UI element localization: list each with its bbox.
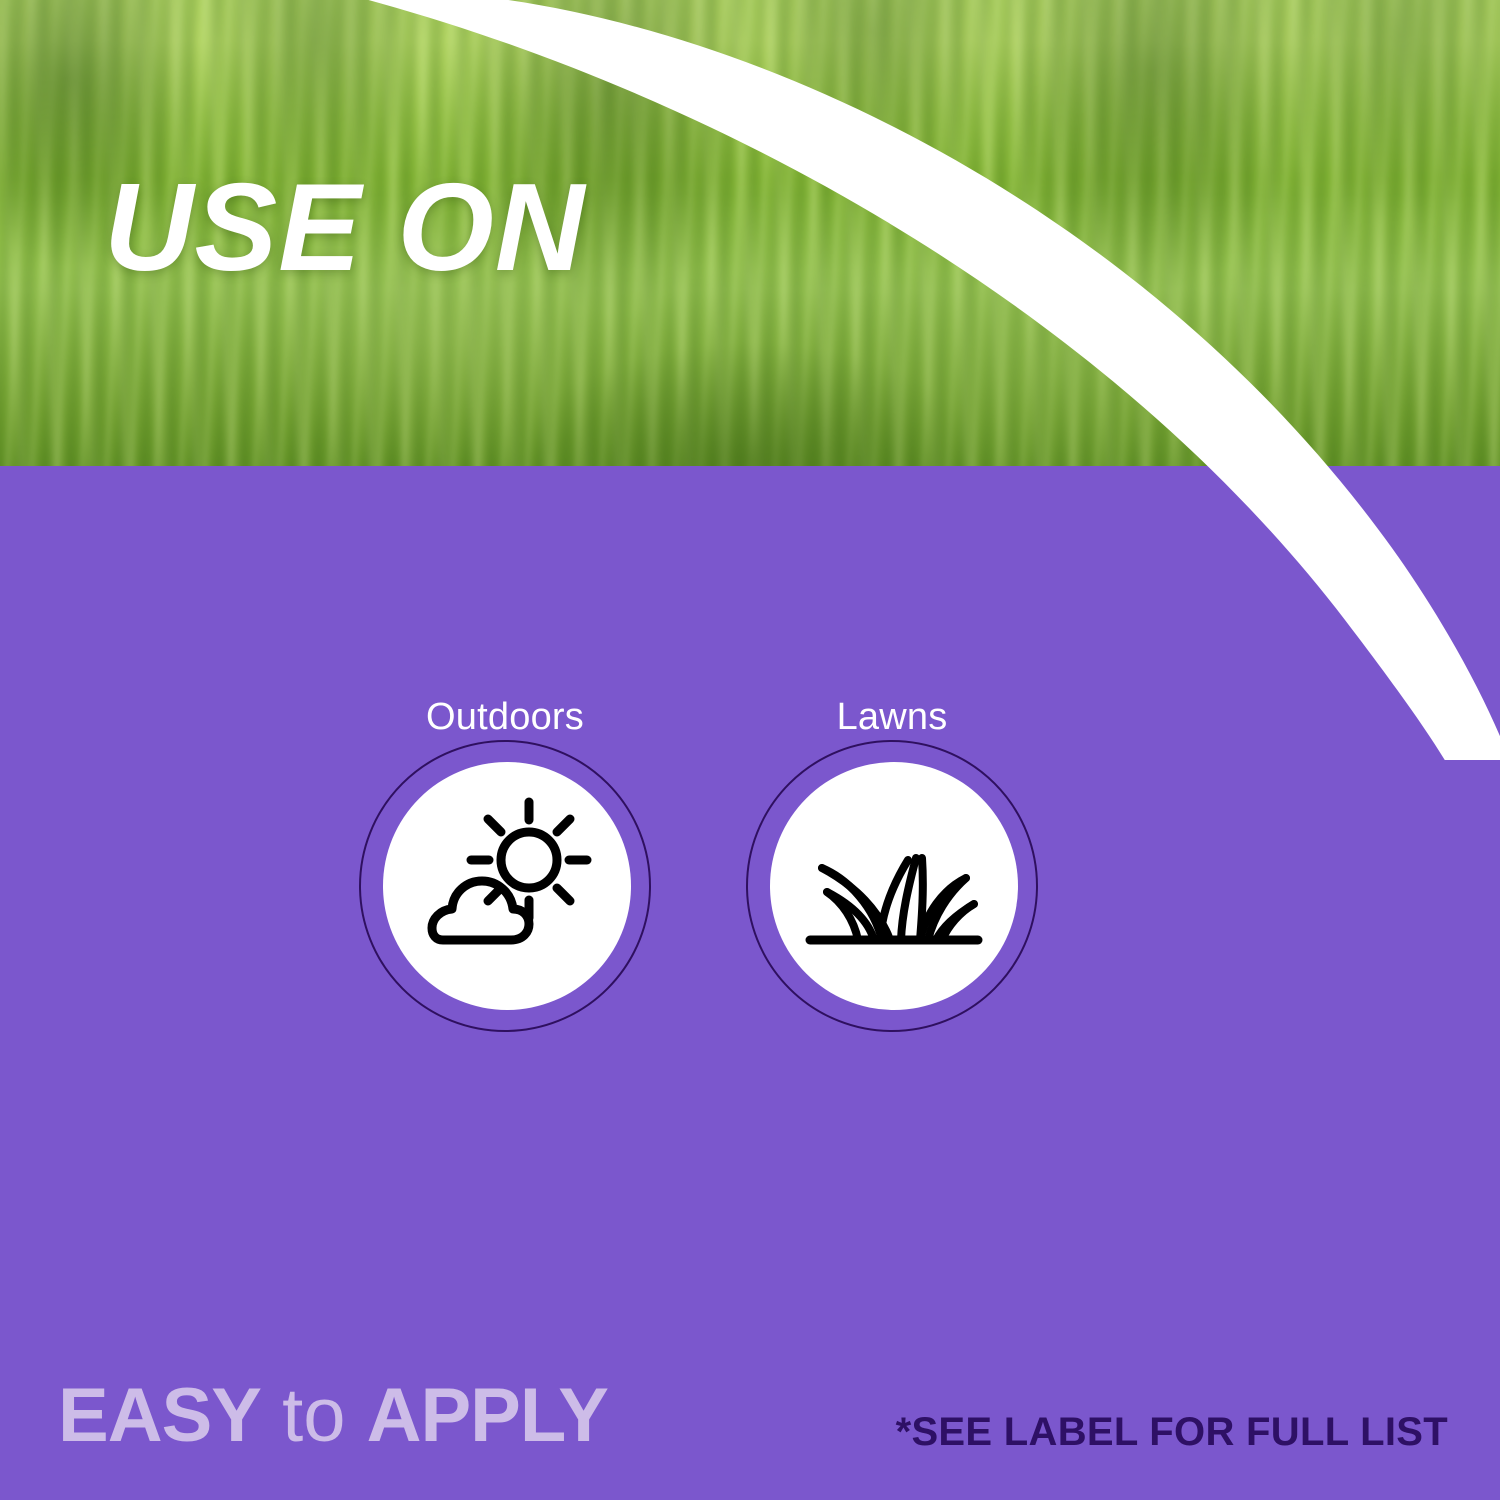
sun-cloud-icon [383,762,631,1010]
easy-word: EASY [58,1373,261,1458]
to-word: to [261,1373,367,1458]
use-on-item-lawns[interactable]: Lawns [742,696,1042,1036]
use-on-item-label: Outdoors [355,696,655,739]
use-on-item-label: Lawns [742,696,1042,739]
product-infographic-canvas: USE ON Outdoors [0,0,1500,1500]
page-title: USE ON [104,166,585,290]
easy-to-apply-tagline: EASY to APPLY [58,1378,608,1454]
apply-word: APPLY [367,1373,608,1458]
use-on-item-outdoors[interactable]: Outdoors [355,696,655,1036]
grass-icon [770,762,1018,1010]
disclaimer-text: *SEE LABEL FOR FULL LIST [896,1412,1448,1452]
